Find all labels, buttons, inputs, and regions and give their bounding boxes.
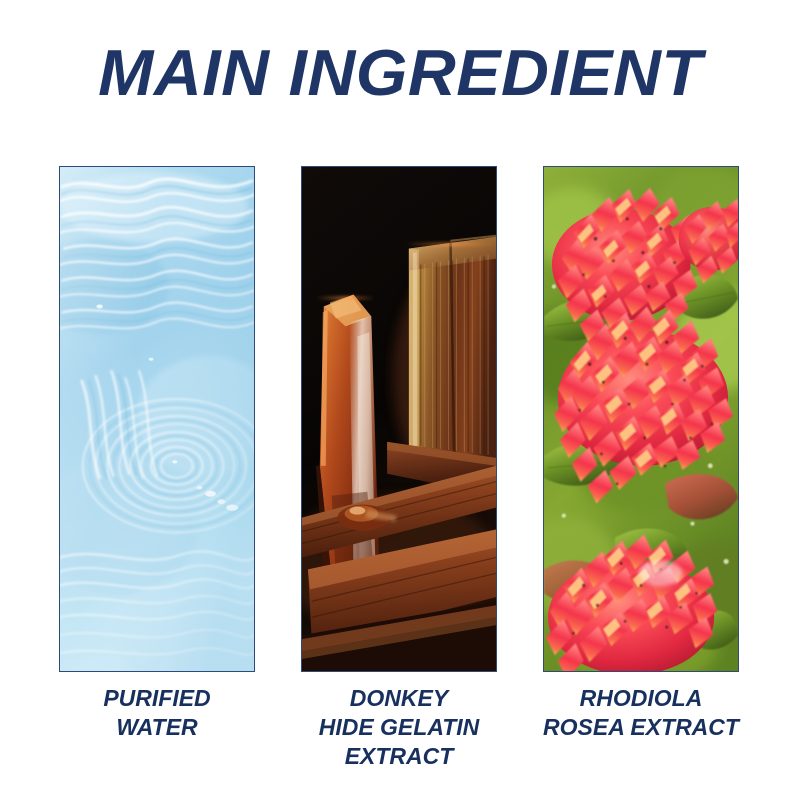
ingredient-panels — [59, 166, 739, 672]
rhodiola-flowers-icon — [544, 167, 738, 671]
gelatin-blocks-icon — [302, 167, 496, 671]
ingredient-poster: MAIN INGREDIENT — [0, 0, 800, 800]
page-title-container: MAIN INGREDIENT — [0, 40, 800, 106]
caption-purified-water: PURIFIED WATER — [42, 684, 272, 794]
ingredient-image-rhodiola-rosea-extract — [543, 166, 739, 672]
caption-donkey-hide-gelatin-extract: DONKEY HIDE GELATIN EXTRACT — [284, 684, 514, 794]
page-title: MAIN INGREDIENT — [98, 40, 702, 106]
ingredient-captions: PURIFIED WATER DONKEY HIDE GELATIN EXTRA… — [59, 684, 739, 794]
ingredient-image-donkey-hide-gelatin-extract — [301, 166, 497, 672]
caption-rhodiola-rosea-extract: RHODIOLA ROSEA EXTRACT — [526, 684, 756, 794]
ingredient-image-purified-water — [59, 166, 255, 672]
water-ripples-icon — [60, 167, 254, 671]
